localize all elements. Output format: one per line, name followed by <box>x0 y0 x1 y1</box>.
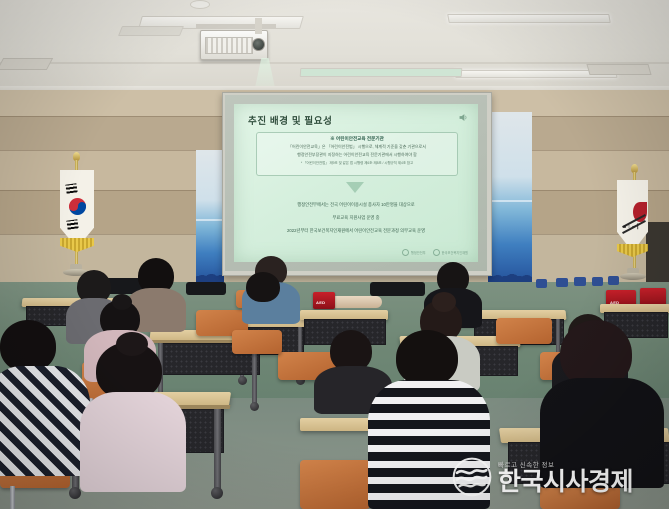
wall-mural-left <box>196 150 224 282</box>
flag-cloth <box>60 170 94 248</box>
slide-bottom-line: 행정안전부에서는 전국 어린이이용시설 종사자 10만명을 대상으로 <box>234 202 478 208</box>
slide-bottom-line: 2022년부터 한국보건복지인재원에서 어린이안전교육 전문과정 의무교육 운영 <box>234 228 478 234</box>
blue-equipment-bag <box>608 276 619 285</box>
slide-logo-row: 행정안전부 한국보건복지인재원 <box>402 249 468 256</box>
flag-cloth: ■ ○ ⌁ ┃ <box>617 180 648 252</box>
slide-box-line: 행정안전부장관이 지정하는 어린이안전교육 전문기관에서 시행하여야 함 <box>257 152 457 157</box>
projector-lens-icon <box>252 38 265 51</box>
ceiling-seam <box>0 62 669 64</box>
bag-on-floor <box>370 282 425 296</box>
slide-box-heading: ※ 어린이안전교육 전문기관 <box>257 136 457 142</box>
presentation-slide: 추진 배경 및 필요성 ※ 어린이안전교육 전문기관 「어린이안전교육」은 「어… <box>234 104 478 262</box>
org-flag-text: ■ ○ ⌁ ┃ <box>623 224 639 230</box>
slide-logo-right: 한국보건복지인재원 <box>433 249 468 256</box>
ceiling-light <box>300 68 463 77</box>
ceiling-vent <box>586 64 651 75</box>
slide-box-line: 「어린이안전교육」은 「어린이안전법」 시행으로, 체계적 기준을 갖춘 기관으… <box>257 144 457 149</box>
cpr-mannequin <box>330 296 382 308</box>
flag-fringe <box>60 238 94 252</box>
slide-box-line: * 「어린이안전법」 제9조 및 같은 법 시행령 제6조·제8조 / 시행규칙… <box>257 161 457 165</box>
trigram-icon <box>66 219 78 229</box>
projector-vent-grille <box>205 37 253 54</box>
blue-equipment-bag <box>592 277 603 286</box>
taeguk-symbol-icon <box>69 198 86 215</box>
organization-flag: ■ ○ ⌁ ┃ <box>606 164 660 284</box>
projector-arm <box>255 18 262 34</box>
logo-mark-icon <box>402 249 409 256</box>
wall-mural-right <box>488 112 532 282</box>
projector-mount <box>196 24 276 29</box>
ceiling-light <box>118 26 184 36</box>
mural-silhouettes <box>196 256 224 282</box>
blue-equipment-bag <box>574 277 586 286</box>
korean-national-flag <box>46 152 106 280</box>
slide-title: 추진 배경 및 필요성 <box>248 113 332 127</box>
slide-arrow-icon <box>346 182 364 193</box>
mural-horizon <box>488 200 532 202</box>
flag-fringe <box>617 244 648 257</box>
ceiling-light <box>447 14 611 23</box>
ceiling-vent <box>0 58 53 70</box>
speaker-icon <box>457 112 469 123</box>
slide-callout-box: ※ 어린이안전교육 전문기관 「어린이안전교육」은 「어린이안전법」 시행으로,… <box>256 132 458 176</box>
blue-equipment-bag <box>556 278 568 287</box>
flag-stand-base <box>620 273 646 280</box>
photo-scene: ■ ○ ⌁ ┃ 추진 배경 및 필요성 ※ 어린이안전교육 전문기관 「어린이안… <box>0 0 669 509</box>
mural-horizon <box>196 219 224 221</box>
logo-mark-icon <box>433 249 440 256</box>
bag-on-floor <box>186 282 226 295</box>
aed-label: AED <box>316 300 325 305</box>
trigram-icon <box>65 183 77 193</box>
slide-logo-left: 행정안전부 <box>402 249 426 256</box>
ceiling-projector <box>200 30 268 60</box>
aed-bag: AED <box>313 292 335 309</box>
slide-bottom-line: 무료교육 지원사업 운영 중 <box>234 215 478 221</box>
blue-equipment-bag <box>536 279 547 288</box>
mural-silhouettes <box>488 256 532 282</box>
smoke-detector-icon <box>190 0 210 9</box>
